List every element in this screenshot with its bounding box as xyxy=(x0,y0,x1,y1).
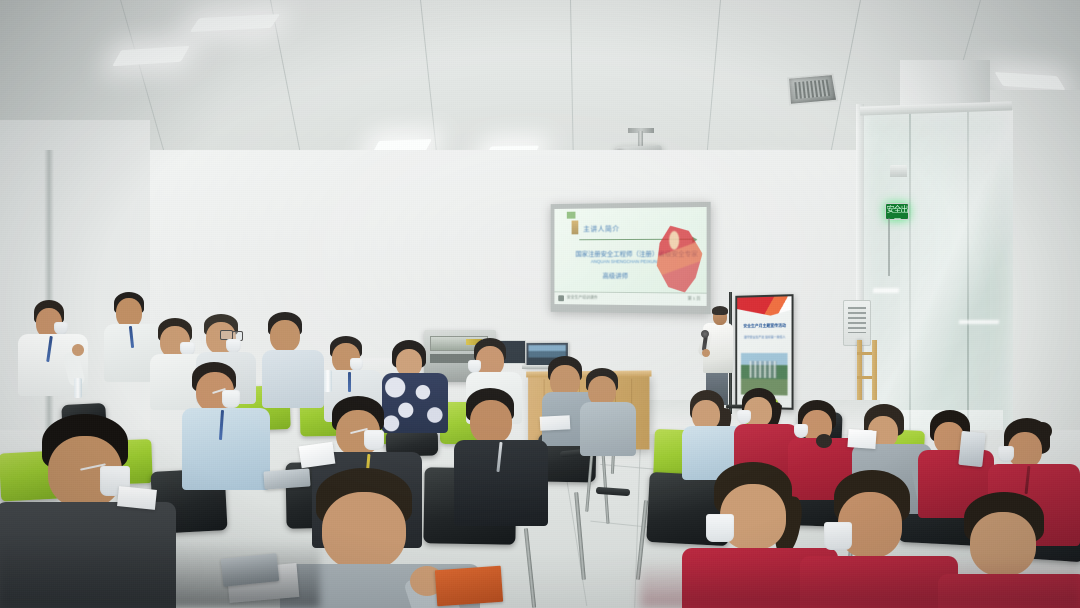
ceiling-air-vent xyxy=(787,73,838,105)
face-mask xyxy=(706,514,734,542)
conference-room-photo: 安全出口 主讲人简介 国家注册安全工程师（注册）省级安全专家 ANQUAN SH… xyxy=(0,0,1080,608)
tablet-device xyxy=(958,431,985,467)
tablet-device xyxy=(263,468,310,489)
handout-document xyxy=(117,486,157,510)
lanyard xyxy=(348,372,351,392)
slide-heading: 主讲人简介 xyxy=(583,224,619,234)
slide-page-number: 第 1 页 xyxy=(688,296,701,302)
banner-subtitle: 遵守安全生产法 当好第一责任人 xyxy=(742,335,788,339)
face-mask xyxy=(794,424,808,438)
banner-top-graphic xyxy=(737,296,791,321)
banner-photo-skyline xyxy=(749,361,777,378)
face-mask xyxy=(364,430,384,450)
banner-title: 安全生产月主题宣传活动 xyxy=(742,323,788,329)
projection-screen: 主讲人简介 国家注册安全工程师（注册）省级安全专家 ANQUAN SHENGCH… xyxy=(551,202,711,314)
face-mask xyxy=(226,339,241,353)
ladder-rung xyxy=(857,376,873,379)
water-bottle xyxy=(74,378,82,398)
handout-document xyxy=(847,429,876,449)
orange-folder xyxy=(435,566,503,607)
reflected-ceiling-light xyxy=(873,288,900,293)
person-torso xyxy=(382,373,448,433)
presenter-hair xyxy=(712,306,728,315)
face-mask xyxy=(737,410,751,424)
foreground-shadow xyxy=(0,540,320,608)
person-head xyxy=(270,320,300,352)
emergency-light xyxy=(890,165,907,177)
slide-body-line-2: ANQUAN SHENGCHAN PEIXUN xyxy=(591,259,657,264)
handout-document xyxy=(540,415,571,431)
presenter-hand xyxy=(702,349,710,357)
person-head xyxy=(470,400,512,444)
person-torso xyxy=(580,402,636,456)
microphone-head xyxy=(701,330,709,338)
slide-tab-decor xyxy=(567,212,576,219)
face-mask xyxy=(824,522,852,550)
wooden-ladder-rack xyxy=(857,340,862,406)
slide-footer-text: 安全生产培训课件 xyxy=(567,294,598,300)
foreground-shadow xyxy=(640,560,1080,608)
handout-document xyxy=(299,442,336,469)
slide-footer-bar: 安全生产培训课件 第 1 页 xyxy=(554,291,706,306)
person-head xyxy=(322,492,406,570)
slide-footer-logo xyxy=(558,295,564,301)
face-mask xyxy=(998,446,1014,462)
ladder-rung xyxy=(857,352,873,355)
hair-scrunchie xyxy=(816,434,832,448)
water-bottle xyxy=(324,370,332,392)
exit-sign-conduit xyxy=(888,218,890,276)
projection-screen-surface: 主讲人简介 国家注册安全工程师（注册）省级安全专家 ANQUAN SHENGCH… xyxy=(554,207,706,306)
person-hand xyxy=(72,344,84,356)
ladder-rail xyxy=(872,340,877,406)
slide-body-line-3: 高级讲师 xyxy=(603,270,628,280)
slide-accent-bar xyxy=(572,221,579,235)
slide-illustration xyxy=(654,225,703,292)
reflected-ceiling-light xyxy=(959,320,999,324)
